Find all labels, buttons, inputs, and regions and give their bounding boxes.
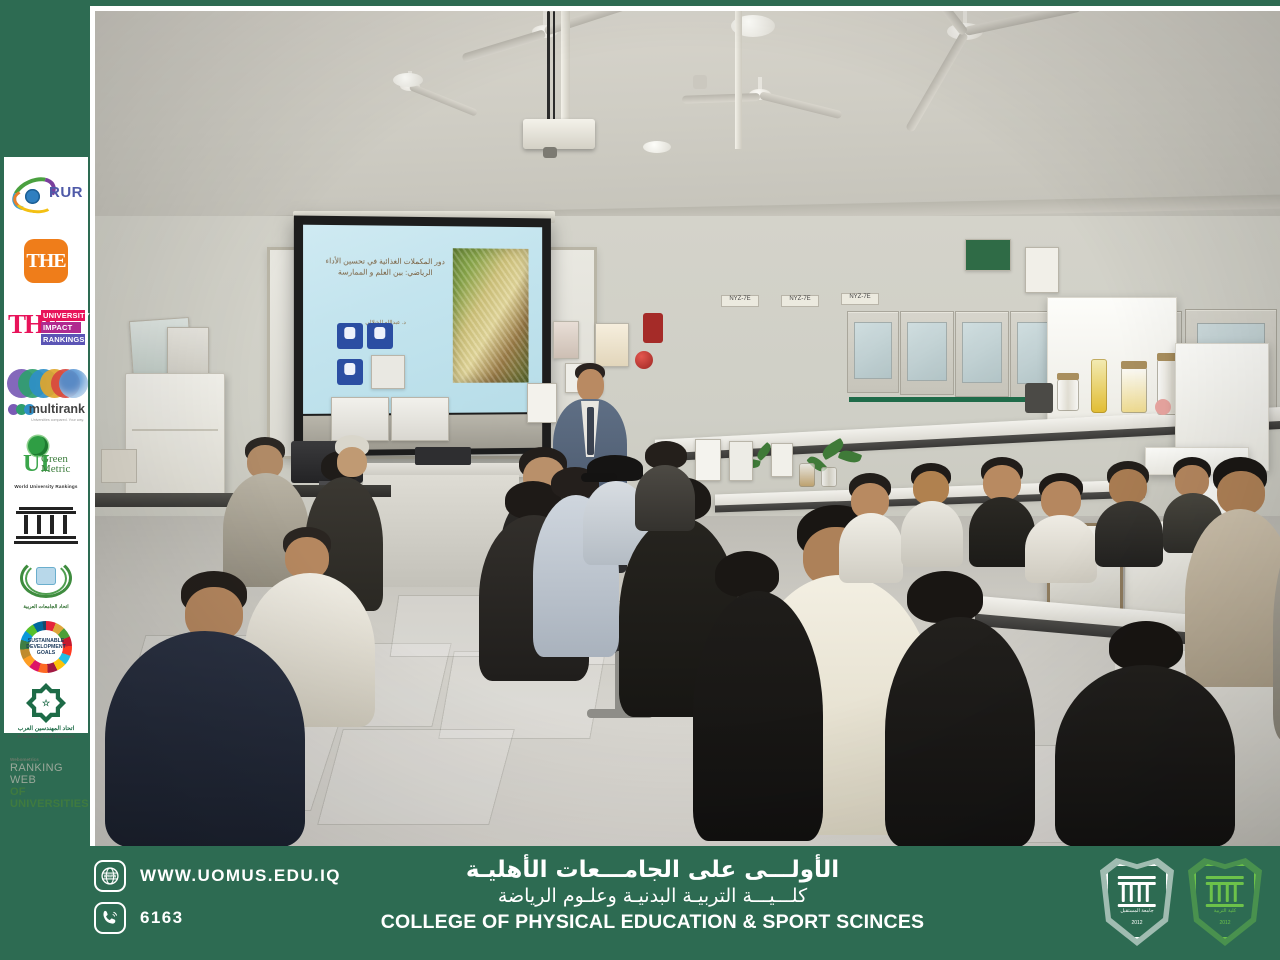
projector-mount-pole — [561, 11, 570, 119]
projector-cable — [553, 11, 555, 135]
oil-bottle — [1091, 359, 1107, 413]
photo-frame: دور المكملات الغذائية في تحسين الأداء ال… — [90, 6, 1280, 846]
projected-slide: دور المكملات الغذائية في تحسين الأداء ال… — [303, 225, 542, 414]
lecture-hall-photograph: دور المكملات الغذائية في تحسين الأداء ال… — [95, 11, 1280, 846]
the-impact-bar-rankings: RANKINGS — [41, 334, 85, 345]
college-crest: كلية التربية 2012 — [1188, 858, 1262, 946]
audience-member — [1025, 473, 1097, 583]
arab-engineers-arabic: اتحاد المهندسين العرب — [10, 725, 82, 732]
laptop — [415, 447, 471, 465]
crest-emblem-icon — [1206, 876, 1244, 908]
logo-the-impact: THE UNIVERSITY IMPACT RANKINGS — [7, 295, 85, 359]
audience-member — [1095, 461, 1163, 567]
projector-cable — [547, 11, 550, 129]
footer-english-college: COLLEGE OF PHYSICAL EDUCATION & SPORT SC… — [380, 909, 925, 935]
arab-universities-label: اتحاد الجامعات العربية — [10, 604, 82, 610]
website-url[interactable]: WWW.UOMUS.EDU.IQ — [140, 866, 341, 886]
laurel-wreath-icon: اتحاد الجامعات العربية — [10, 558, 82, 610]
audience-member — [1273, 481, 1280, 741]
the-impact-icon: THE UNIVERSITY IMPACT RANKINGS — [7, 305, 85, 349]
shelf-notice — [771, 443, 793, 477]
greenmetric-metric-label: Metric — [41, 464, 70, 474]
logo-arab-universities: اتحاد الجامعات العربية — [7, 553, 85, 615]
equipment-box — [101, 449, 137, 483]
wall-notice — [595, 323, 629, 367]
cabinet — [955, 311, 1009, 397]
cabinet — [900, 311, 954, 395]
cabinet — [847, 311, 899, 393]
logo-ui-greenmetric: UI Green Metric World University Ranking… — [7, 427, 85, 497]
audience-member — [885, 571, 1035, 846]
phone-ring-icon — [94, 902, 126, 934]
eight-point-star-icon: ☆ اتحاد المهندسين العرب Federation of Ar… — [10, 683, 82, 741]
logo-temple — [7, 499, 85, 551]
projector-lens — [543, 147, 557, 158]
webometrics-wordmark-icon: Webometrics RANKING WEB OF UNIVERSITIES — [7, 751, 85, 791]
slide-image — [453, 249, 529, 383]
wall-diagram — [391, 397, 449, 441]
shelf-notice — [695, 439, 721, 481]
webometrics-line1: RANKING WEB — [7, 762, 85, 786]
wall-certificate — [1025, 247, 1059, 293]
specimen-jar — [821, 467, 837, 487]
ceiling-light-dome — [643, 141, 671, 153]
accreditation-rail: RUR THE THE UNIVERSITY IMPACT RANKINGS — [0, 0, 92, 960]
jar-lid — [1057, 373, 1079, 380]
specimen-jar — [1057, 379, 1079, 411]
the-badge-icon: THE — [24, 239, 68, 283]
ceiling-fan — [685, 77, 835, 147]
college-crest-year: 2012 — [1188, 920, 1262, 926]
specimen-jar — [799, 463, 815, 487]
safety-instruction-panel — [371, 355, 405, 389]
svg-text:www: www — [103, 874, 117, 880]
footer-title-block: الأولـــى على الجامـــعات الأهليـة كلـــ… — [380, 856, 925, 935]
lab-refrigerator — [125, 373, 225, 495]
phone-row[interactable]: 6163 — [94, 902, 394, 934]
arab-engineers-english: Federation of Arab Engineers — [10, 734, 82, 739]
jar-lid — [1121, 361, 1147, 369]
safety-sign — [337, 359, 363, 385]
red-sphere — [635, 351, 653, 369]
sdg-label: SUSTAINABLE DEVELOPMENT GOALS — [26, 638, 65, 656]
red-wall-fixture — [643, 313, 663, 343]
website-row[interactable]: www WWW.UOMUS.EDU.IQ — [94, 860, 394, 892]
crest-emblem-icon — [1118, 876, 1156, 908]
footer-arabic-tagline: الأولـــى على الجامـــعات الأهليـة — [380, 856, 925, 884]
ceiling-light-dome — [393, 73, 423, 87]
audience-member — [327, 435, 377, 505]
multirank-subtitle: Universities compared. Your way. — [31, 418, 84, 422]
footer-contact-block: www WWW.UOMUS.EDU.IQ 6163 — [94, 860, 394, 944]
multirank-rings-icon: multirank Universities compared. Your wa… — [7, 369, 85, 417]
logo-the: THE — [7, 229, 85, 293]
slide-title: دور المكملات الغذائية في تحسين الأداء ال… — [318, 255, 453, 278]
the-impact-bar-university: UNIVERSITY — [41, 310, 85, 321]
audience-member — [693, 551, 823, 841]
greenmetric-subtitle: World University Rankings — [8, 484, 84, 489]
university-crest: جامعة المستقبل 2012 — [1100, 858, 1174, 946]
specimen-jar — [1121, 367, 1147, 413]
logo-multirank: multirank Universities compared. Your wa… — [7, 361, 85, 425]
logo-webometrics: Webometrics RANKING WEB OF UNIVERSITIES — [7, 747, 85, 795]
greenmetric-globe-icon: UI Green Metric World University Ranking… — [8, 436, 84, 488]
university-crest-year: 2012 — [1100, 920, 1174, 926]
ceiling-fan — [855, 11, 1075, 83]
ceiling-sensor — [693, 75, 707, 89]
footer-arabic-college: كلـــيـــة التربيـة البدنيـة وعلـوم الري… — [380, 884, 925, 909]
university-crest-arabic: جامعة المستقبل — [1100, 908, 1174, 914]
globe-www-icon: www — [94, 860, 126, 892]
sdg-color-wheel-icon: SUSTAINABLE DEVELOPMENT GOALS — [20, 621, 72, 673]
rur-label: RUR — [49, 184, 83, 201]
green-wall-sign — [965, 239, 1011, 271]
projector — [523, 119, 595, 149]
the-impact-bar-impact: IMPACT — [41, 322, 81, 333]
college-crest-arabic: كلية التربية — [1188, 908, 1262, 914]
logo-rur: RUR — [7, 163, 85, 227]
phone-number[interactable]: 6163 — [140, 908, 183, 928]
the-label: THE — [26, 250, 65, 273]
projector-pole — [735, 11, 742, 149]
rur-globe-arc-icon: RUR — [9, 175, 83, 215]
footer-crest-logos: جامعة المستقبل 2012 كلية التربية 2012 — [1100, 858, 1262, 946]
multirank-label: multirank — [29, 402, 85, 416]
audience-member — [635, 441, 695, 531]
pink-specimen — [1155, 399, 1171, 415]
safety-sign — [337, 323, 363, 349]
dark-equipment — [1025, 383, 1053, 413]
audience-member — [901, 463, 963, 567]
ceiling-fan — [465, 11, 625, 71]
shelf-notice — [729, 441, 753, 481]
webometrics-line2: OF UNIVERSITIES — [7, 786, 85, 810]
cabinet-label-tag: NYZ-7E — [781, 295, 819, 307]
audience-member — [1055, 621, 1235, 846]
cabinet-label-tag: NYZ-7E — [721, 295, 759, 307]
audience-member — [839, 473, 903, 583]
accreditation-logo-strip: RUR THE THE UNIVERSITY IMPACT RANKINGS — [4, 157, 88, 733]
audience-member — [105, 571, 305, 846]
greek-temple-icon — [16, 505, 76, 545]
cabinet-label-tag: NYZ-7E — [841, 293, 879, 305]
brand-footer: www WWW.UOMUS.EDU.IQ 6163 الأولـــى على … — [0, 846, 1280, 960]
logo-sdg: SUSTAINABLE DEVELOPMENT GOALS — [7, 617, 85, 677]
wall-poster — [553, 321, 579, 359]
logo-arab-engineers: ☆ اتحاد المهندسين العرب Federation of Ar… — [7, 679, 85, 745]
safety-sign — [367, 323, 393, 349]
